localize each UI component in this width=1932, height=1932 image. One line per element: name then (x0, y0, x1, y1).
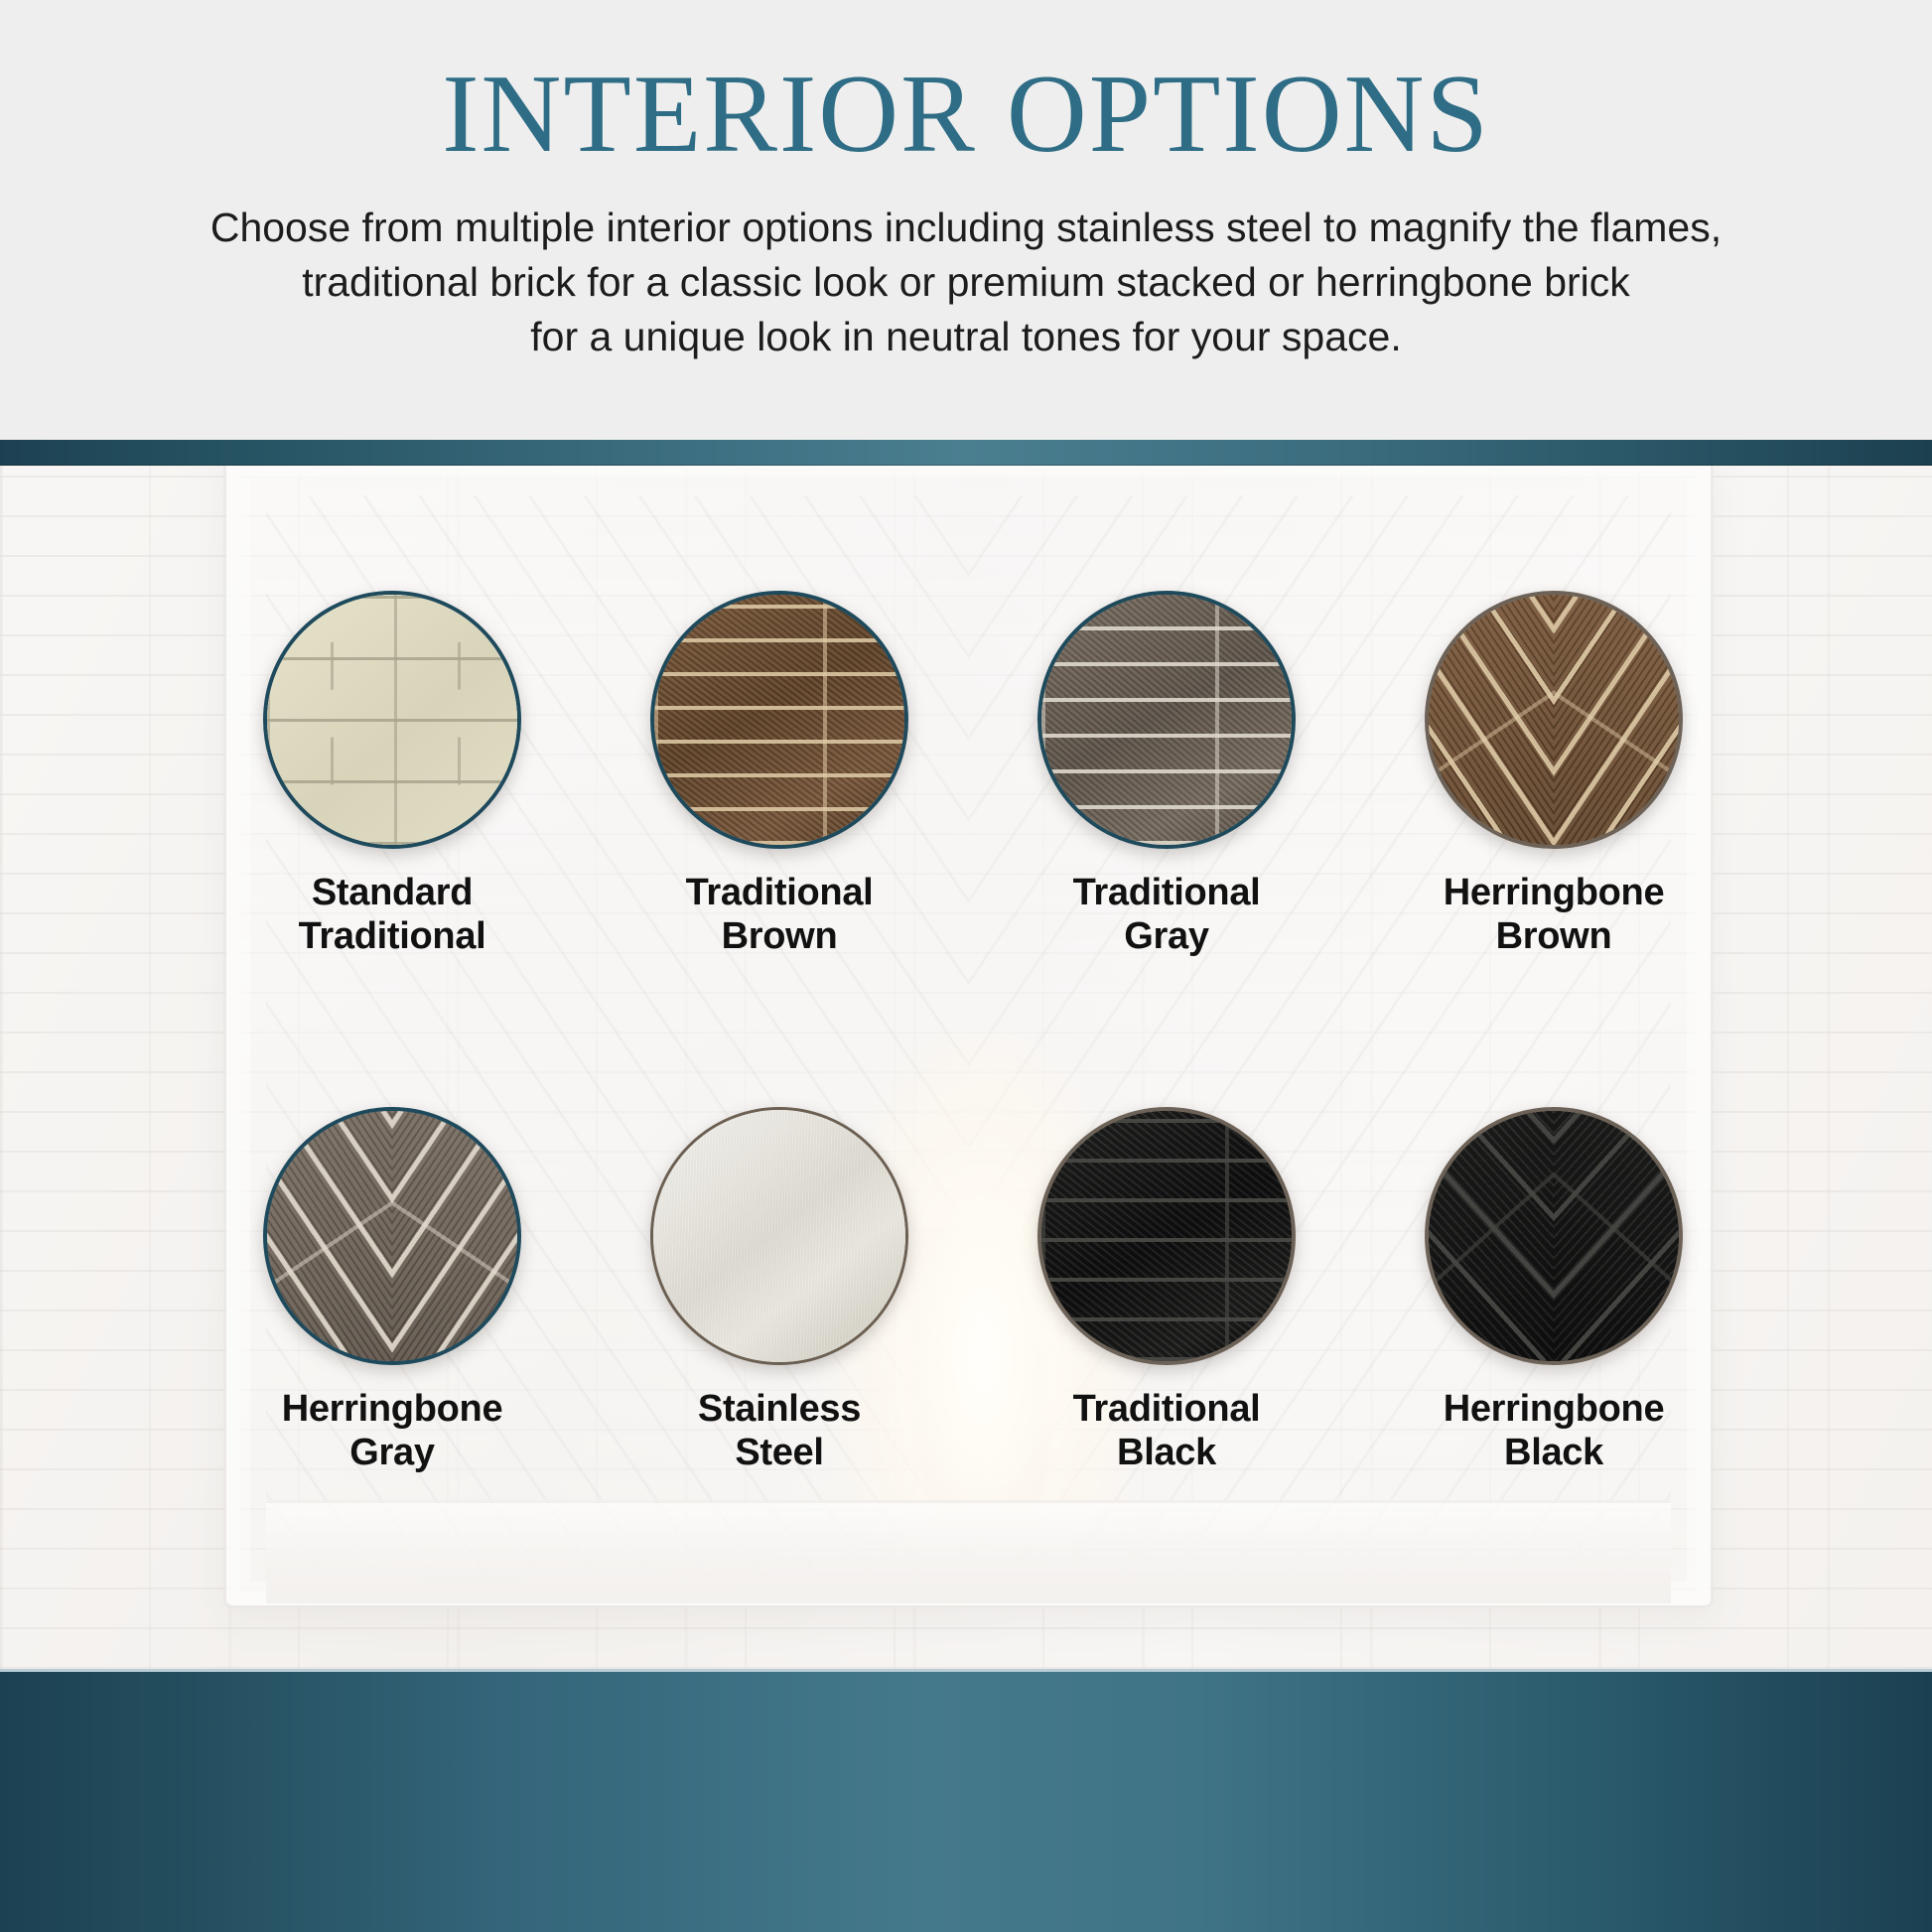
description-line-1: Choose from multiple interior options in… (72, 201, 1860, 255)
herringbone-right-half (1554, 1107, 1679, 1365)
label-line-1: Traditional (621, 871, 938, 914)
label-line-1: Standard (233, 871, 551, 914)
swatch-thumbnail-traditional-gray[interactable] (1037, 591, 1296, 849)
swatch-label-herringbone-gray: Herringbone Gray (233, 1387, 551, 1474)
label-line-1: Herringbone (1395, 1387, 1713, 1431)
label-line-1: Traditional (1008, 1387, 1325, 1431)
label-line-2: Gray (233, 1431, 551, 1474)
herringbone-right-half (392, 1107, 517, 1365)
swatch-thumbnail-traditional-brown[interactable] (650, 591, 908, 849)
herringbone-left-half (1429, 591, 1554, 849)
swatch-label-stainless-steel: Stainless Steel (621, 1387, 938, 1474)
label-line-1: Stainless (621, 1387, 938, 1431)
texture-brushed-stainless-steel (653, 1110, 905, 1362)
texture-herringbone-gray-brick (267, 1111, 517, 1361)
swatch-thumbnail-standard-traditional[interactable] (263, 591, 521, 849)
texture-stacked-brown-brick (654, 595, 904, 845)
page-title: INTERIOR OPTIONS (442, 58, 1490, 171)
swatch-label-traditional-gray: Traditional Gray (1008, 871, 1325, 958)
texture-running-bond-cream (267, 595, 517, 845)
label-line-2: Black (1008, 1431, 1325, 1474)
label-line-2: Gray (1008, 914, 1325, 958)
swatch-thumbnail-stainless-steel[interactable] (650, 1107, 908, 1365)
swatch-thumbnail-herringbone-gray[interactable] (263, 1107, 521, 1365)
swatch-traditional-black[interactable]: Traditional Black (1008, 1107, 1325, 1474)
fireplace-showcase-panel: Standard Traditional Traditional Brown (0, 466, 1932, 1669)
label-line-2: Steel (621, 1431, 938, 1474)
herringbone-right-half (1554, 591, 1679, 849)
swatch-traditional-brown[interactable]: Traditional Brown (621, 591, 938, 958)
herringbone-left-half (267, 1107, 392, 1365)
swatch-label-traditional-brown: Traditional Brown (621, 871, 938, 958)
label-line-2: Black (1395, 1431, 1713, 1474)
swatch-label-herringbone-brown: Herringbone Brown (1395, 871, 1713, 958)
header-description: Choose from multiple interior options in… (72, 201, 1860, 364)
texture-herringbone-brown-brick (1429, 595, 1679, 845)
label-line-2: Brown (1395, 914, 1713, 958)
label-line-2: Traditional (233, 914, 551, 958)
swatch-label-herringbone-black: Herringbone Black (1395, 1387, 1713, 1474)
swatch-thumbnail-traditional-black[interactable] (1037, 1107, 1296, 1365)
swatch-label-traditional-black: Traditional Black (1008, 1387, 1325, 1474)
swatch-herringbone-brown[interactable]: Herringbone Brown (1395, 591, 1713, 958)
description-line-2: traditional brick for a classic look or … (72, 255, 1860, 310)
herringbone-left-half (1429, 1107, 1554, 1365)
swatch-thumbnail-herringbone-brown[interactable] (1425, 591, 1683, 849)
texture-stacked-gray-brick (1041, 595, 1292, 845)
swatch-thumbnail-herringbone-black[interactable] (1425, 1107, 1683, 1365)
texture-herringbone-black-brick (1429, 1111, 1679, 1361)
label-line-2: Brown (621, 914, 938, 958)
header-section: INTERIOR OPTIONS Choose from multiple in… (0, 0, 1932, 440)
infographic-page: INTERIOR OPTIONS Choose from multiple in… (0, 0, 1932, 1932)
swatch-grid: Standard Traditional Traditional Brown (0, 466, 1932, 1669)
label-line-1: Traditional (1008, 871, 1325, 914)
description-line-3: for a unique look in neutral tones for y… (72, 310, 1860, 364)
label-line-1: Herringbone (233, 1387, 551, 1431)
teal-divider-bar (0, 440, 1932, 466)
texture-stacked-black-brick (1041, 1111, 1292, 1361)
label-line-1: Herringbone (1395, 871, 1713, 914)
footer-band (0, 1669, 1932, 1932)
swatch-stainless-steel[interactable]: Stainless Steel (621, 1107, 938, 1474)
swatch-herringbone-black[interactable]: Herringbone Black (1395, 1107, 1713, 1474)
swatch-label-standard-traditional: Standard Traditional (233, 871, 551, 958)
swatch-traditional-gray[interactable]: Traditional Gray (1008, 591, 1325, 958)
swatch-standard-traditional[interactable]: Standard Traditional (233, 591, 551, 958)
swatch-herringbone-gray[interactable]: Herringbone Gray (233, 1107, 551, 1474)
